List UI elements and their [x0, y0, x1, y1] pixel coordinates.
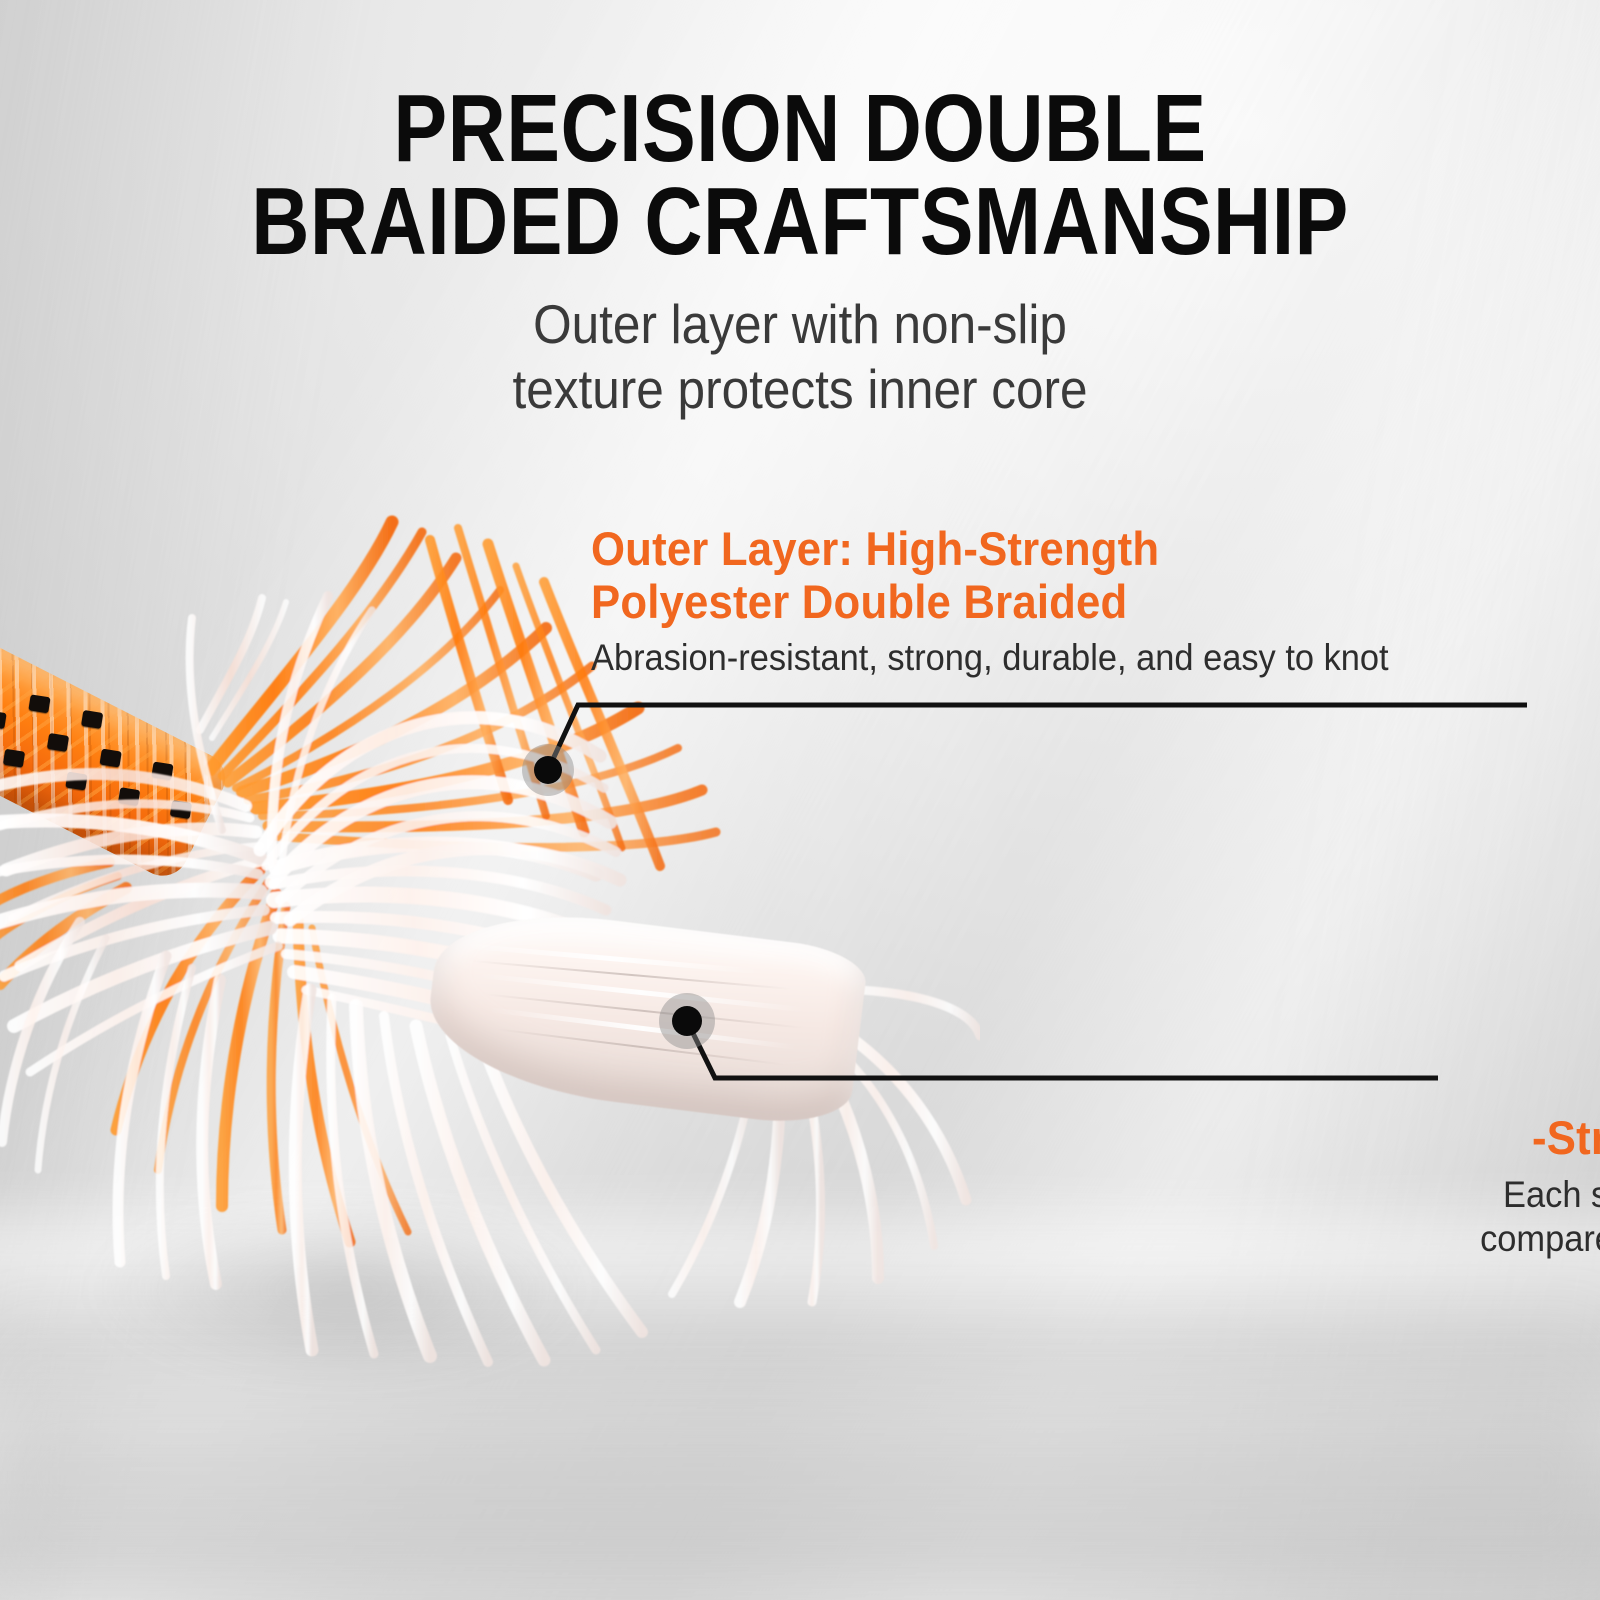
callout-inner-core-body-line-2: compared to non-twisted core technique: [1480, 1217, 1600, 1261]
callout-outer-layer-title-line-1: Outer Layer: High-Strength: [591, 523, 1389, 576]
callout-inner-core-body: Each strand twisted for higher strength …: [1480, 1173, 1600, 1262]
callout-outer-layer: Outer Layer: High-Strength Polyester Dou…: [591, 523, 1449, 681]
callout-outer-layer-body-line-1: Abrasion-resistant, strong, durable, and…: [591, 636, 1389, 680]
callout-inner-core-body-line-1: Each strand twisted for higher strength: [1480, 1173, 1600, 1217]
headline-block: PRECISION DOUBLE BRAIDED CRAFTSMANSHIP O…: [0, 82, 1600, 422]
page-title-line-2: BRAIDED CRAFTSMANSHIP: [128, 175, 1472, 268]
callout-outer-layer-title: Outer Layer: High-Strength Polyester Dou…: [591, 523, 1389, 628]
page-subtitle-line-2: texture protects inner core: [80, 357, 1520, 422]
callout-inner-core: 7-Strand Twisted Inner Core Each strand …: [1434, 1112, 1600, 1261]
callout-outer-layer-body: Abrasion-resistant, strong, durable, and…: [591, 636, 1389, 680]
callout-inner-core-title-rest: -Strand Twisted Inner Core: [1480, 1112, 1600, 1165]
page-subtitle: Outer layer with non-slip texture protec…: [80, 292, 1520, 422]
callout-inner-core-title: 7-Strand Twisted Inner Core: [1480, 1112, 1600, 1165]
page-subtitle-line-1: Outer layer with non-slip: [80, 292, 1520, 357]
callout-outer-layer-title-line-2: Polyester Double Braided: [591, 576, 1389, 629]
infographic-canvas: PRECISION DOUBLE BRAIDED CRAFTSMANSHIP O…: [0, 0, 1600, 1600]
callout-inner-core-title-line-1: 7-Strand Twisted Inner Core: [1480, 1112, 1600, 1165]
page-title-line-1: PRECISION DOUBLE: [128, 82, 1472, 175]
